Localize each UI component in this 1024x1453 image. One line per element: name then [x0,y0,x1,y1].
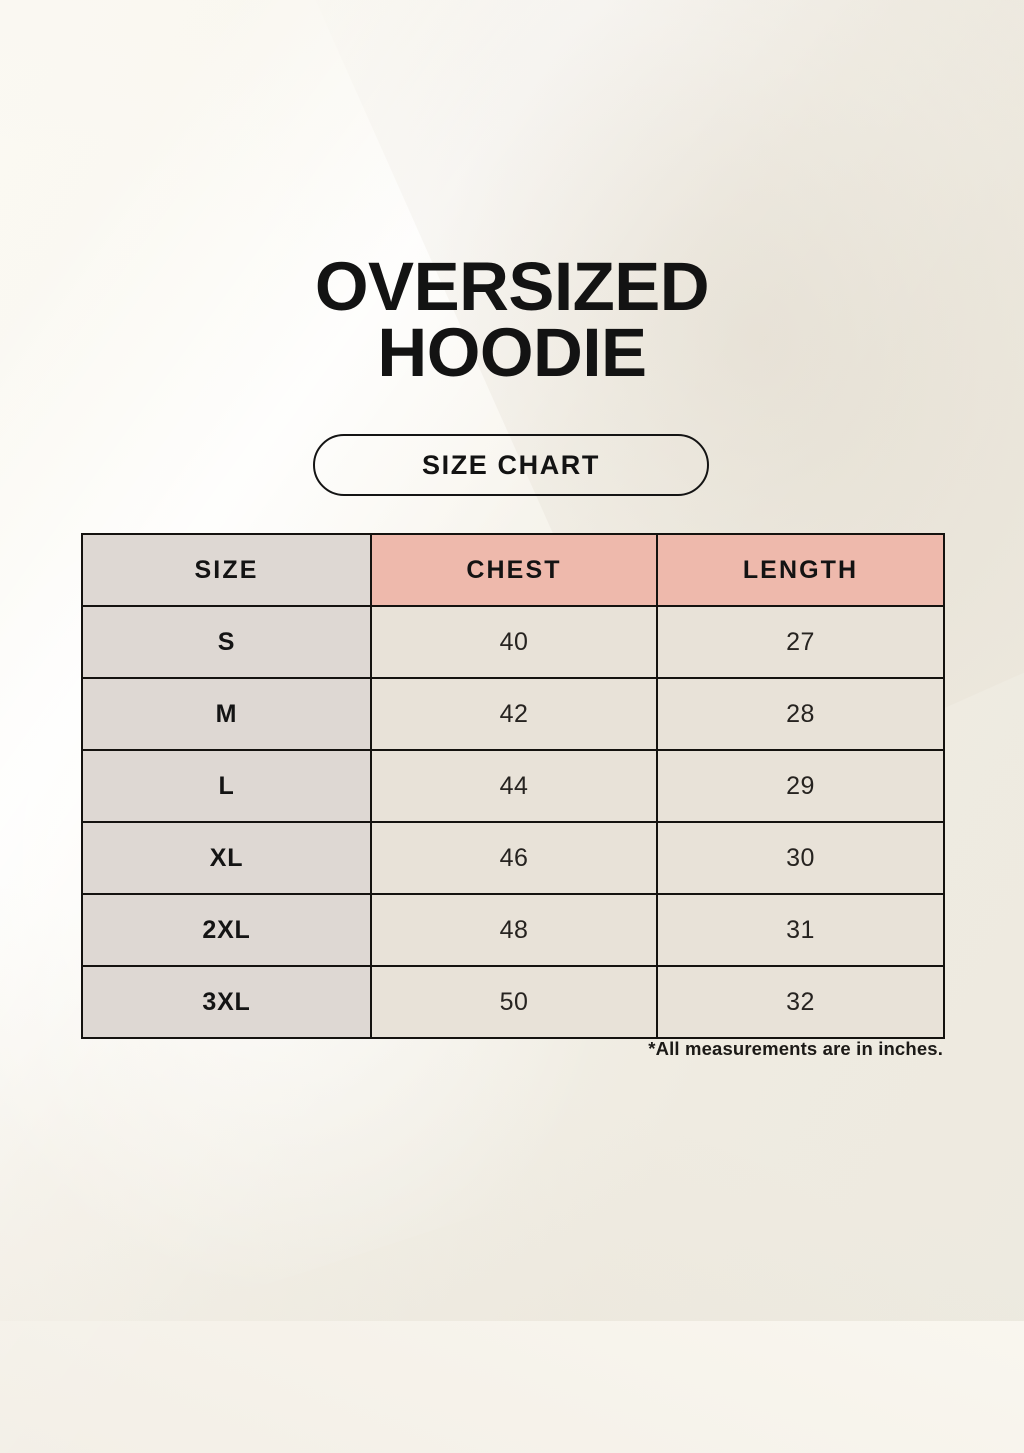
cell-size: 2XL [82,894,371,966]
size-chart-badge: SIZE CHART [313,434,709,496]
cell-length: 29 [657,750,944,822]
cell-length: 32 [657,966,944,1038]
cell-size: M [82,678,371,750]
cell-chest: 46 [371,822,657,894]
size-chart-table: SIZE CHEST LENGTH S 40 27 M 42 28 L 44 2… [81,533,945,1039]
cell-size: L [82,750,371,822]
cell-chest: 42 [371,678,657,750]
cell-length: 28 [657,678,944,750]
size-chart-poster: OVERSIZED HOODIE SIZE CHART SIZE CHEST L… [0,0,1024,1321]
page-title-line-2: HOODIE [0,320,1024,386]
table-row: XL 46 30 [82,822,944,894]
table-row: M 42 28 [82,678,944,750]
column-header-length: LENGTH [657,534,944,606]
table-header-row: SIZE CHEST LENGTH [82,534,944,606]
column-header-size: SIZE [82,534,371,606]
cell-chest: 40 [371,606,657,678]
cell-length: 30 [657,822,944,894]
size-chart-badge-label: SIZE CHART [422,450,600,481]
cell-chest: 50 [371,966,657,1038]
cell-chest: 44 [371,750,657,822]
measurement-units-note: *All measurements are in inches. [81,1038,943,1060]
table-row: 3XL 50 32 [82,966,944,1038]
table-row: S 40 27 [82,606,944,678]
cell-size: XL [82,822,371,894]
cell-length: 31 [657,894,944,966]
page-title-line-1: OVERSIZED [0,254,1024,320]
cell-length: 27 [657,606,944,678]
cell-size: 3XL [82,966,371,1038]
table-row: L 44 29 [82,750,944,822]
size-chart-table-head: SIZE CHEST LENGTH [82,534,944,606]
size-chart-table-body: S 40 27 M 42 28 L 44 29 XL 46 30 2XL 48 [82,606,944,1038]
table-row: 2XL 48 31 [82,894,944,966]
cell-size: S [82,606,371,678]
page-title: OVERSIZED HOODIE [0,254,1024,386]
cell-chest: 48 [371,894,657,966]
column-header-chest: CHEST [371,534,657,606]
